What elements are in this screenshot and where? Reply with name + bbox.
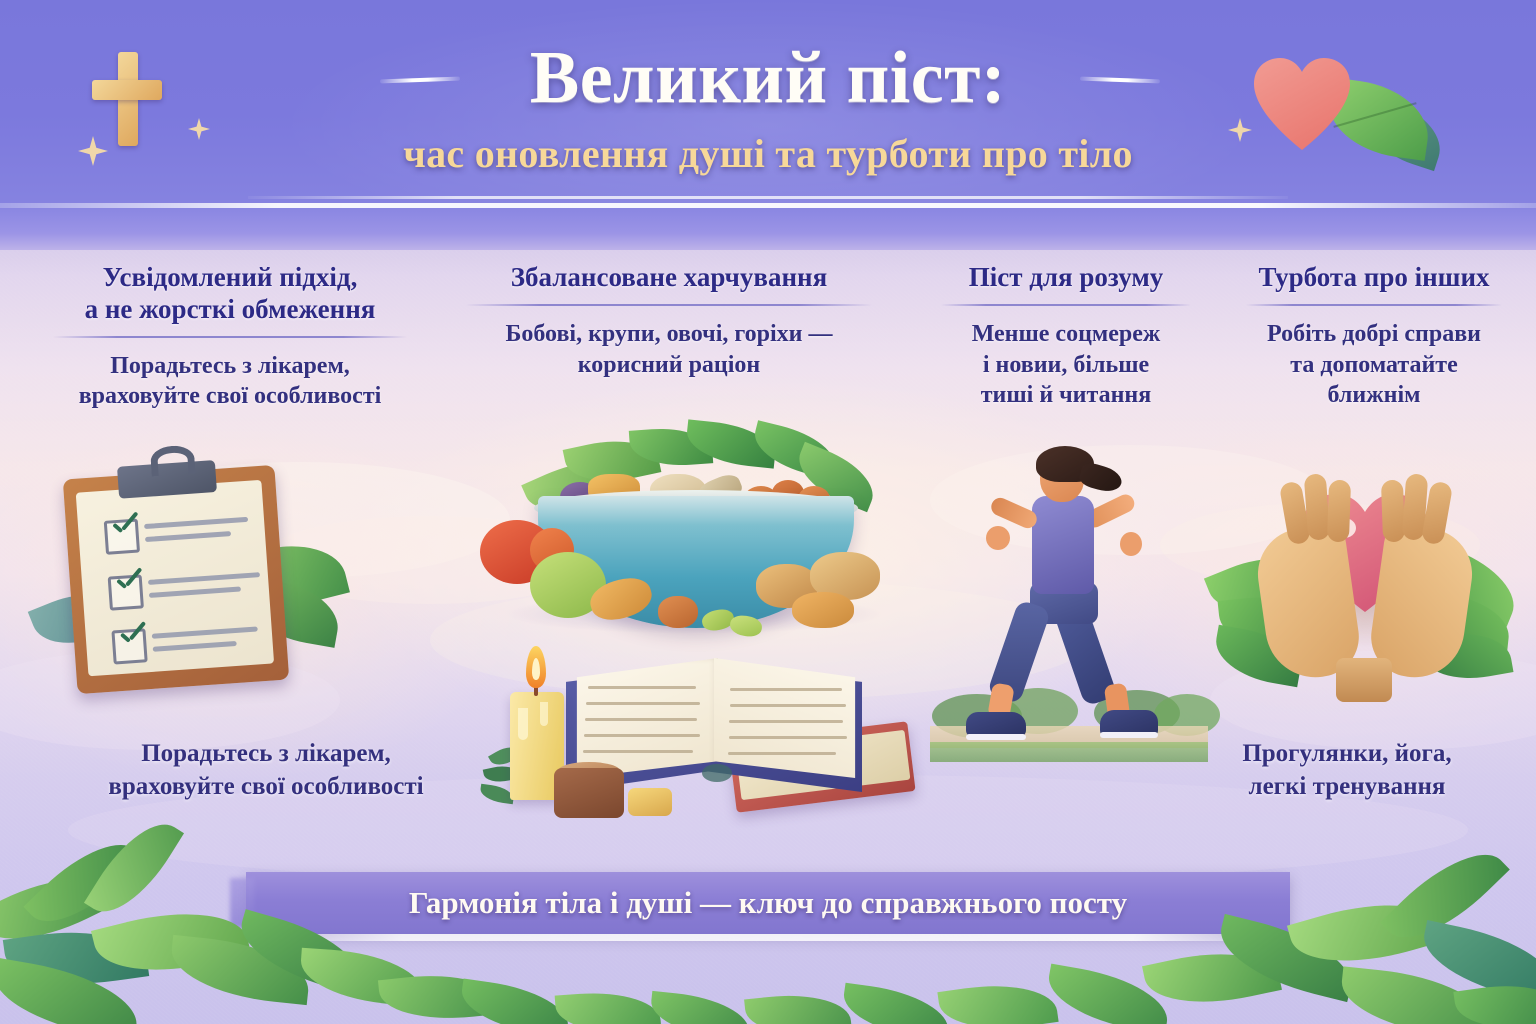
column-body: Менше соцмереж і новии, більше тиші й чи… (930, 319, 1202, 411)
finger (1381, 480, 1405, 543)
column-fasting-for-mind: Піст для розуму Менше соцмереж і новии, … (930, 262, 1202, 411)
candle-wax-drip (518, 708, 528, 740)
finger (1327, 480, 1351, 543)
column-heading-line1: Збалансоване харчування (511, 262, 827, 292)
column-body-line1: Порадьтесь з лікарем, (110, 353, 350, 379)
book-spine (702, 764, 732, 782)
clipboard-checklist-illustration (48, 452, 348, 702)
book-left-page (574, 658, 718, 778)
caption-left-line1: Порадьтесь з лікарем, (141, 740, 391, 767)
page-subtitle: час оновлення душі та турботи про тіло (0, 130, 1536, 177)
bottom-banner-text: Гармонія тіла і душі — ключ до справжньо… (409, 885, 1127, 921)
checklist-row (108, 566, 260, 610)
leaf-shape (744, 989, 852, 1024)
column-body: Робіть добрі справи та допоматайте ближн… (1234, 319, 1514, 411)
column-heading: Піст для розуму (930, 262, 1202, 294)
header-banner: Великий піст: час оновлення душі та турб… (0, 0, 1536, 208)
caption-right: Прогулянки, йога, легкі тренування (1182, 738, 1512, 803)
nut (658, 596, 698, 628)
column-heading: Усвідомлений підхід, а не жорсткі обмеже… (34, 262, 426, 326)
column-heading-line1: Усвідомлений підхід, (103, 262, 358, 292)
leaf-shape (1453, 977, 1536, 1024)
check-icon (111, 568, 143, 596)
text-line (148, 572, 260, 585)
column-care-for-others: Турбота про інших Робіть добрі справи та… (1234, 262, 1514, 411)
column-body-line1: Бобові, крупи, овочі, горіхи — (505, 321, 832, 347)
column-body-line2: та допоматайте (1290, 352, 1458, 378)
text-line (153, 641, 237, 652)
grass-strip (930, 742, 1208, 762)
tank-top (1032, 496, 1094, 594)
shoe-sole (966, 734, 1026, 740)
flame-core (532, 658, 540, 680)
leaf-shape (84, 808, 184, 928)
walking-woman-illustration (944, 444, 1194, 760)
column-divider (466, 304, 872, 306)
page-title: Великий піст: (0, 36, 1536, 121)
leaf-shape (1416, 920, 1536, 1004)
column-heading-line1: Турбота про інших (1258, 262, 1489, 292)
check-icon (107, 513, 139, 541)
column-heading-line1: Піст для розуму (969, 262, 1164, 292)
clipboard-board (63, 465, 289, 694)
leaf-shape (1287, 884, 1447, 981)
column-body-line1: Робіть добрі справи (1267, 321, 1481, 347)
column-heading-line2: а не жорсткі обмеження (85, 294, 376, 324)
column-body: Бобові, крупи, овочі, горіхи — корисний … (454, 319, 884, 380)
walnut (792, 592, 854, 628)
column-body-line2: корисний раціон (578, 352, 761, 378)
back-hand (1120, 532, 1142, 556)
check-icon (115, 622, 147, 650)
leaf-shape (91, 895, 251, 990)
checklist-row (111, 620, 263, 664)
bottom-banner: Гармонія тіла і душі — ключ до справжньо… (246, 872, 1290, 934)
text-line (144, 517, 248, 529)
shoe-sole (1100, 732, 1158, 738)
column-body-line1: Менше соцмереж (972, 321, 1161, 347)
wrists (1336, 658, 1392, 702)
caption-left-line2: враховуйте свої особливості (108, 773, 423, 800)
column-body-line3: ближнім (1328, 382, 1421, 408)
leaf-shape (1380, 832, 1510, 960)
book-right-page (714, 658, 858, 778)
column-heading: Збалансоване харчування (454, 262, 884, 294)
leaf-shape (23, 823, 144, 942)
leaf-shape (1043, 964, 1174, 1024)
caption-right-line1: Прогулянки, йога, (1242, 740, 1451, 767)
food-bowl-illustration (474, 424, 914, 644)
clay-pot (554, 768, 624, 818)
leaf-shape (0, 957, 144, 1024)
subtitle-rule (248, 196, 1288, 199)
leaf-shape (555, 988, 662, 1024)
text-line (152, 626, 258, 638)
leaf-shape (298, 948, 425, 1007)
clipboard-clip (117, 460, 217, 499)
clipboard-paper (76, 480, 274, 677)
leaf-shape (1142, 939, 1282, 1017)
hands-holding-heart-illustration (1216, 462, 1516, 714)
caption-left: Порадьтесь з лікарем, враховуйте свої ос… (56, 738, 476, 803)
caption-right-line2: легкі тренування (1249, 773, 1446, 800)
column-balanced-nutrition: Збалансоване харчування Бобові, крупи, о… (454, 262, 884, 380)
column-body-line2: і новии, більше (983, 352, 1149, 378)
open-book-candle-illustration (488, 636, 928, 846)
poster-root: Великий піст: час оновлення душі та турб… (0, 0, 1536, 1024)
column-body: Порадьтесь з лікарем, враховуйте свої ос… (34, 351, 426, 412)
header-lower-band (0, 208, 1536, 250)
leaf-shape (3, 921, 149, 996)
front-hand (986, 526, 1010, 550)
text-line (145, 531, 231, 542)
leaf-shape (937, 976, 1058, 1024)
leaf-shape (0, 856, 115, 962)
leaf-shape (839, 983, 952, 1024)
column-body-line3: тиші й читання (981, 382, 1151, 408)
column-mindful-approach: Усвідомлений підхід, а не жорсткі обмеже… (34, 262, 426, 412)
leaf-shape (1337, 966, 1492, 1024)
leaf-shape (648, 991, 752, 1024)
text-line (149, 587, 241, 598)
column-divider (53, 336, 407, 338)
leaf-shape (457, 979, 572, 1024)
leaf-shape (167, 935, 312, 1005)
bread-piece (628, 788, 672, 816)
ponytail (1078, 461, 1125, 496)
candle-wax-drip (540, 702, 548, 726)
column-divider (1246, 304, 1502, 306)
column-heading: Турбота про інших (1234, 262, 1514, 294)
checklist-row (104, 510, 256, 554)
column-body-line2: враховуйте свої особливості (79, 383, 382, 409)
leaf-shape (378, 968, 502, 1024)
column-divider (941, 304, 1191, 306)
